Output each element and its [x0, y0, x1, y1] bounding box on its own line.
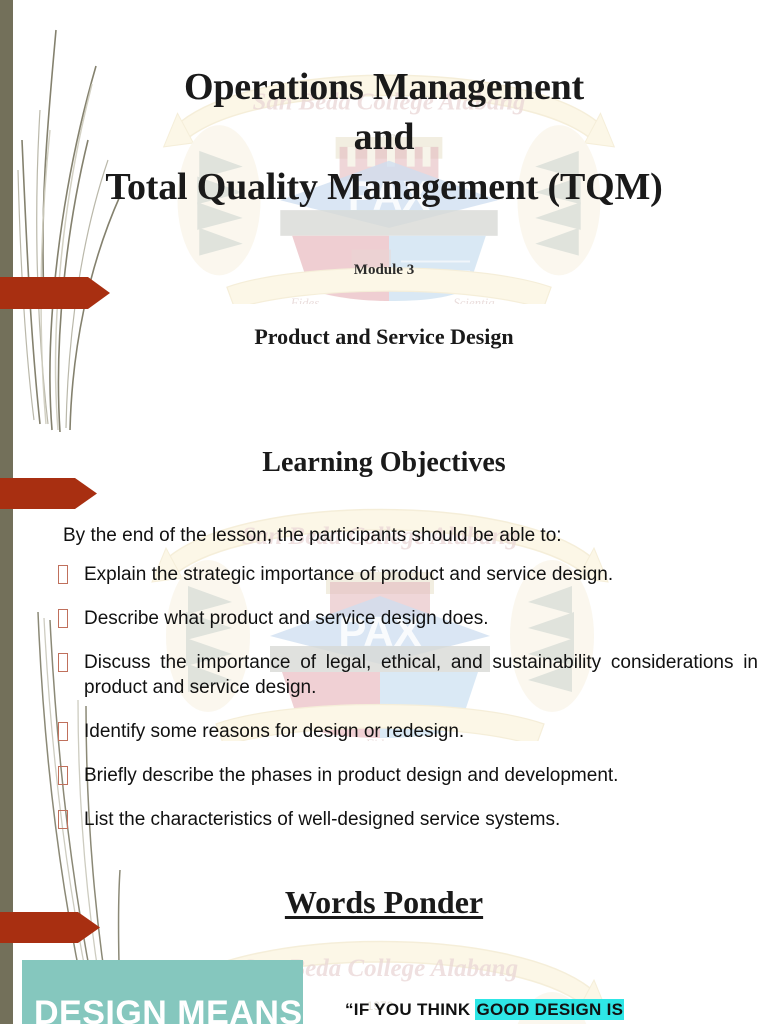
list-item-label: Describe what product and service design… — [84, 606, 758, 631]
box-bullet-icon — [58, 766, 68, 785]
module-label: Module 3 — [0, 262, 768, 279]
slide-title-block: Operations Management and Total Quality … — [0, 62, 768, 212]
list-item-label: Identify some reasons for design or rede… — [84, 719, 758, 744]
list-item: Discuss the importance of legal, ethical… — [58, 650, 758, 700]
list-item-label: Briefly describe the phases in product d… — [84, 763, 758, 788]
list-item-label: List the characteristics of well-designe… — [84, 807, 758, 832]
slide-page: San Beda College Alabang 1972 PAX — [0, 0, 768, 1024]
list-item-label: Discuss the importance of legal, ethical… — [84, 650, 758, 700]
slide-title-line-1: Operations Management — [0, 62, 768, 112]
list-item-label: Explain the strategic importance of prod… — [84, 562, 758, 587]
slide-title-line-3: Total Quality Management (TQM) — [0, 162, 768, 212]
list-item: Explain the strategic importance of prod… — [58, 562, 758, 587]
learning-objectives-heading: Learning Objectives — [0, 447, 768, 479]
list-item: List the characteristics of well-designe… — [58, 807, 758, 832]
box-bullet-icon — [58, 722, 68, 741]
box-bullet-icon — [58, 653, 68, 672]
list-item: Describe what product and service design… — [58, 606, 758, 631]
box-bullet-icon — [58, 810, 68, 829]
list-item: Briefly describe the phases in product d… — [58, 763, 758, 788]
slide-subtitle: Product and Service Design — [0, 324, 768, 350]
box-bullet-icon — [58, 565, 68, 584]
list-item: Identify some reasons for design or rede… — [58, 719, 758, 744]
slide-title-line-2: and — [0, 112, 768, 162]
box-bullet-icon — [58, 609, 68, 628]
learning-objectives-intro: By the end of the lesson, the participan… — [63, 525, 743, 547]
slide-content: Operations Management and Total Quality … — [0, 0, 768, 1024]
words-ponder-heading: Words Ponder — [0, 884, 768, 921]
learning-objectives-list: Explain the strategic importance of prod… — [58, 562, 758, 851]
